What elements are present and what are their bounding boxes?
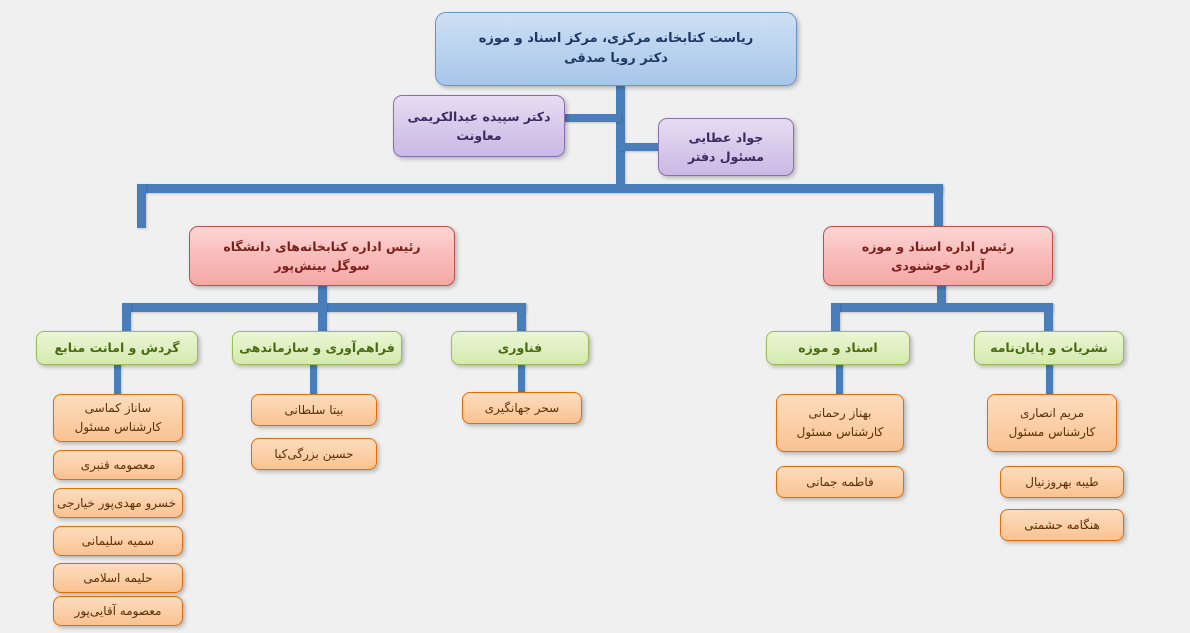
node-director-archives-line2: آزاده خوشنودی (830, 256, 1046, 275)
node-root[interactable]: ریاست کتابخانه مرکزی، مرکز اسناد و موزه … (435, 12, 797, 86)
staff-name: سحر جهانگیری (469, 399, 575, 418)
connector-branch-documents (831, 303, 840, 334)
node-director-libraries-line2: سوگل بینش‌پور (196, 256, 448, 275)
node-director-libraries[interactable]: رئیس اداره کتابخانه‌های دانشگاه سوگل بین… (189, 226, 455, 286)
list-item-staff-circulation-2[interactable]: خسرو مهدی‌پور خیارجی (53, 488, 183, 518)
connector-publications-to-staff (1046, 363, 1053, 396)
connector-branch-technology (517, 303, 526, 334)
node-director-archives-line1: رئیس اداره اسناد و موزه (830, 237, 1046, 256)
connector-drop-libraries (137, 184, 146, 228)
node-unit-publications-theses[interactable]: نشریات و پایان‌نامه (974, 331, 1124, 365)
staff-name: طیبه بهروزنیال (1007, 473, 1117, 492)
node-root-line2: دکتر رویا صدقی (442, 49, 790, 69)
staff-name: ساناز کماسی (60, 399, 176, 418)
connector-branch-circulation (122, 303, 131, 334)
staff-role: کارشناس مسئول (994, 423, 1110, 442)
node-unit-circulation[interactable]: گردش و امانت منابع (36, 331, 198, 365)
list-item-staff-circulation-1[interactable]: معصومه قنبری (53, 450, 183, 480)
org-chart-canvas: ریاست کتابخانه مرکزی، مرکز اسناد و موزه … (0, 0, 1190, 633)
list-item-staff-acquisition-0[interactable]: بیتا سلطانی (251, 394, 377, 426)
list-item-staff-documents-0[interactable]: بهناز رحمانی کارشناس مسئول (776, 394, 904, 452)
staff-name: حلیمه اسلامی (60, 569, 176, 588)
connector-acquisition-to-staff (310, 363, 317, 396)
list-item-staff-circulation-3[interactable]: سمیه سلیمانی (53, 526, 183, 556)
list-item-staff-circulation-5[interactable]: معصومه آقایی‌پور (53, 596, 183, 626)
staff-name: سمیه سلیمانی (60, 532, 176, 551)
staff-name: فاطمه جمانی (783, 473, 897, 492)
connector-main-horizontal (137, 184, 943, 193)
list-item-staff-circulation-4[interactable]: حلیمه اسلامی (53, 563, 183, 593)
staff-name: بهناز رحمانی (783, 404, 897, 423)
connector-drop-archives (934, 184, 943, 228)
staff-role: کارشناس مسئول (60, 418, 176, 437)
node-deputy-line2: معاونت (400, 126, 558, 145)
node-office-manager-line2: مسئول دفتر (665, 147, 787, 166)
connector-archives-branch-bar (831, 303, 1053, 312)
node-director-archives[interactable]: رئیس اداره اسناد و موزه آزاده خوشنودی (823, 226, 1053, 286)
connector-technology-to-staff (518, 363, 525, 393)
connector-documents-to-staff (836, 363, 843, 396)
staff-name: معصومه آقایی‌پور (60, 602, 176, 621)
node-director-libraries-line1: رئیس اداره کتابخانه‌های دانشگاه (196, 237, 448, 256)
node-unit-technology[interactable]: فناوری (451, 331, 589, 365)
node-deputy[interactable]: دکتر سپیده عبدالکریمی معاونت (393, 95, 565, 157)
node-unit-documents-museum[interactable]: اسناد و موزه (766, 331, 910, 365)
node-unit-publications-theses-label: نشریات و پایان‌نامه (981, 338, 1117, 357)
list-item-staff-publications-2[interactable]: هنگامه حشمتی (1000, 509, 1124, 541)
list-item-staff-publications-0[interactable]: مریم انصاری کارشناس مسئول (987, 394, 1117, 452)
staff-role: کارشناس مسئول (783, 423, 897, 442)
staff-name: معصومه قنبری (60, 456, 176, 475)
node-root-line1: ریاست کتابخانه مرکزی، مرکز اسناد و موزه (442, 29, 790, 49)
connector-branch-publications (1044, 303, 1053, 334)
list-item-staff-publications-1[interactable]: طیبه بهروزنیال (1000, 466, 1124, 498)
staff-name: بیتا سلطانی (258, 401, 370, 420)
staff-name: خسرو مهدی‌پور خیارجی (60, 494, 176, 513)
staff-name: حسین بزرگی‌کیا (258, 445, 370, 464)
node-unit-documents-museum-label: اسناد و موزه (773, 338, 903, 357)
node-unit-circulation-label: گردش و امانت منابع (43, 338, 191, 357)
list-item-staff-documents-1[interactable]: فاطمه جمانی (776, 466, 904, 498)
connector-branch-acquisition (318, 303, 327, 334)
connector-office-horizontal (620, 143, 662, 151)
node-unit-acquisition-label: فراهم‌آوری و سازماندهی (239, 338, 395, 357)
list-item-staff-technology-0[interactable]: سحر جهانگیری (462, 392, 582, 424)
node-unit-technology-label: فناوری (458, 338, 582, 357)
connector-deputy-horizontal (563, 114, 621, 122)
node-office-manager-line1: جواد عطایی (665, 128, 787, 147)
node-deputy-line1: دکتر سپیده عبدالکریمی (400, 107, 558, 126)
connector-circulation-to-staff (114, 363, 121, 396)
node-unit-acquisition[interactable]: فراهم‌آوری و سازماندهی (232, 331, 402, 365)
list-item-staff-acquisition-1[interactable]: حسین بزرگی‌کیا (251, 438, 377, 470)
list-item-staff-circulation-0[interactable]: ساناز کماسی کارشناس مسئول (53, 394, 183, 442)
staff-name: هنگامه حشمتی (1007, 516, 1117, 535)
node-office-manager[interactable]: جواد عطایی مسئول دفتر (658, 118, 794, 176)
staff-name: مریم انصاری (994, 404, 1110, 423)
connector-root-down (616, 86, 625, 190)
